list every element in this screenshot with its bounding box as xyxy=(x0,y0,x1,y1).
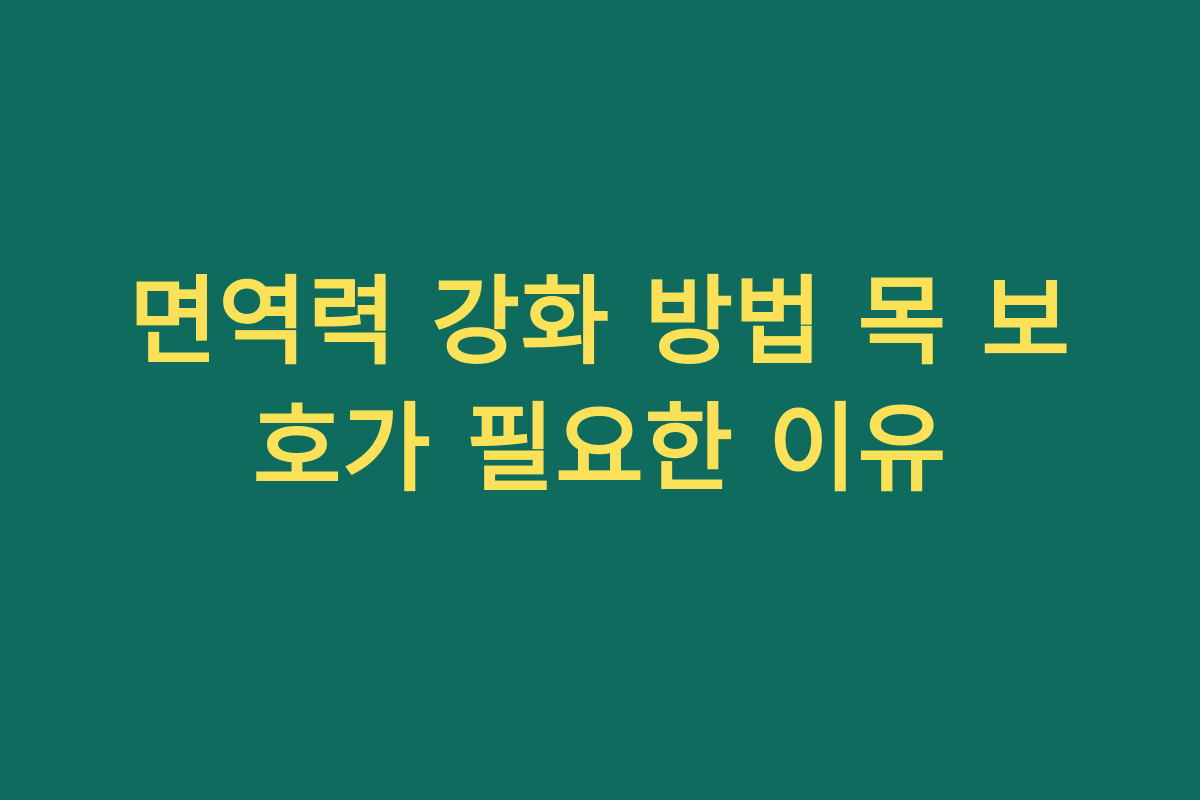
page-title: 면역력 강화 방법 목 보 호가 필요한 이유 xyxy=(100,259,1100,513)
title-banner: 면역력 강화 방법 목 보 호가 필요한 이유 xyxy=(0,0,1200,800)
title-line-1: 면역력 강화 방법 목 보 xyxy=(120,259,1080,386)
title-line-2: 호가 필요한 이유 xyxy=(120,386,1080,513)
